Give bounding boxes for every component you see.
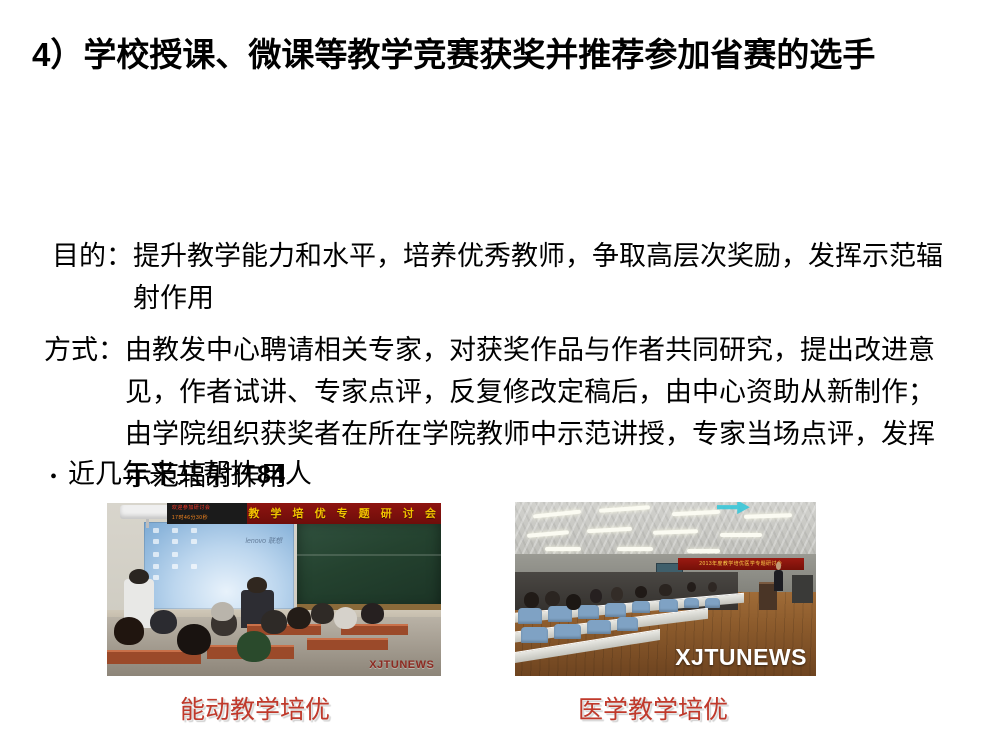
ceiling-light [720, 533, 762, 537]
caption-right-photo: 医学教学培优 [578, 690, 728, 726]
seat [554, 624, 581, 640]
seminar-banner: 2013年度教学培优医学专题研讨会 [678, 558, 804, 570]
photo-left-scene: lenovo 联想 欢迎参加研讨会 17时46分30秒 教 学 培 优 专 题 … [107, 503, 441, 676]
audience-head [177, 624, 210, 655]
audience-head [635, 586, 647, 598]
desk [307, 638, 387, 650]
led-line-2: 17时46分30秒 [172, 514, 208, 521]
seminar-banner: 教 学 培 优 专 题 研 讨 会 [247, 503, 441, 524]
ceiling-light [545, 547, 581, 551]
caption-left-photo: 能动教学培优 [180, 690, 330, 726]
audience-head [114, 617, 144, 645]
presenter-seated-center-head [247, 577, 267, 593]
audience-head [311, 603, 334, 624]
audience-head [708, 582, 717, 592]
seat [518, 608, 542, 624]
audience-head [545, 591, 560, 607]
seat [659, 599, 677, 611]
audience-head [524, 592, 539, 608]
audience-head [566, 594, 581, 610]
watermark-xjtunews: XJTUNEWS [369, 659, 434, 671]
side-cabinet [792, 575, 813, 603]
list-item: • 近几年来共帮扶84人 [50, 455, 312, 496]
bullet-marker-icon: • [50, 458, 57, 496]
watermark-xjtunews: XJTUNEWS [675, 644, 807, 671]
desktop-icons [151, 527, 220, 582]
led-line-1: 欢迎参加研讨会 [172, 504, 211, 511]
bullet-text: 近几年来共帮扶84人 [68, 455, 312, 494]
seat [617, 617, 638, 631]
audience-head [659, 584, 671, 596]
seat [578, 605, 599, 619]
audience-head [361, 603, 384, 624]
seat [521, 627, 548, 643]
ceiling-light [617, 547, 653, 551]
audience-head [590, 589, 602, 603]
audience-head [211, 602, 234, 621]
photo-left-classroom: lenovo 联想 欢迎参加研讨会 17时46分30秒 教 学 培 优 专 题 … [107, 503, 441, 676]
page-title: 4）学校授课、微课等教学竞赛获奖并推荐参加省赛的选手 [32, 33, 962, 77]
seat [684, 598, 699, 608]
audience-head [334, 607, 357, 629]
photo-right-scene: 2013年度教学培优医学专题研讨会 [515, 502, 816, 676]
presenter-standing-left-head [129, 569, 149, 585]
seat [605, 603, 626, 617]
method-label: 方式： [44, 329, 125, 371]
blackboard [297, 520, 441, 610]
bullet-count: 84 [257, 461, 285, 489]
seat [632, 601, 650, 613]
bullet-text-after: 人 [285, 459, 312, 489]
audience-head [261, 610, 288, 634]
audience-head [150, 610, 177, 634]
seat [705, 598, 720, 608]
audience-head [687, 582, 696, 592]
audience-head [287, 607, 310, 629]
bullet-text-before: 近几年来共帮扶 [68, 459, 257, 489]
ceiling-light [687, 549, 720, 553]
seat [587, 620, 611, 634]
audience-head [237, 631, 270, 662]
speaker-person [774, 570, 783, 591]
presentation-slide: 4）学校授课、微课等教学竞赛获奖并推荐参加省赛的选手 目的： 提升教学能力和水平… [0, 0, 1000, 750]
led-display: 欢迎参加研讨会 17时46分30秒 [167, 503, 247, 524]
screen-brand-label: lenovo 联想 [245, 536, 282, 546]
photo-right-lecture-hall: 2013年度教学培优医学专题研讨会 [515, 502, 816, 676]
